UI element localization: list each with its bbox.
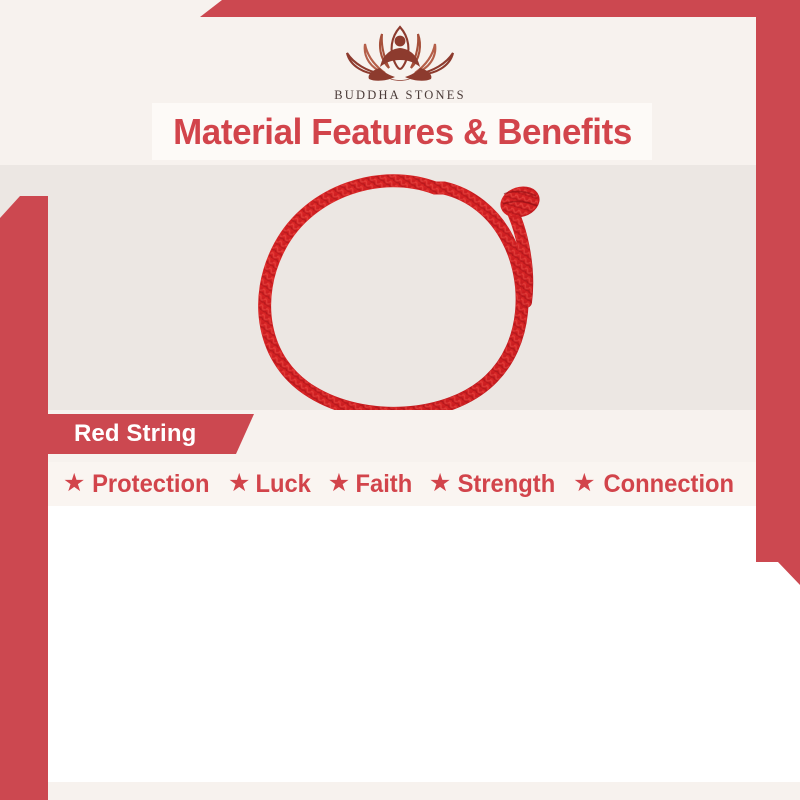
- lotus-meditation-icon: [325, 19, 475, 85]
- benefit-label: Luck: [256, 470, 311, 499]
- decorative-left-bar: [0, 196, 48, 800]
- star-icon: ★: [573, 471, 595, 496]
- star-icon: ★: [328, 471, 350, 496]
- product-name-banner: Red String: [28, 414, 254, 454]
- benefit-item: ★ Connection: [567, 470, 743, 499]
- title-band: Material Features & Benefits: [152, 103, 652, 160]
- benefit-label: Strength: [458, 470, 556, 499]
- benefit-item: ★ Protection: [57, 470, 219, 499]
- benefit-item: ★ Strength: [423, 470, 564, 499]
- benefit-item: ★ Faith: [322, 470, 420, 499]
- description-background: [0, 506, 800, 782]
- product-photo-area: [0, 165, 800, 430]
- benefit-item: ★ Luck: [222, 470, 319, 499]
- page-title: Material Features & Benefits: [173, 111, 632, 153]
- brand-name: BUDDHA STONES: [334, 88, 466, 103]
- footer-strip: [0, 782, 800, 800]
- red-braided-bracelet-image: [232, 162, 572, 432]
- benefit-label: Faith: [356, 470, 413, 499]
- decorative-right-bar: [756, 0, 800, 585]
- benefit-label: Protection: [92, 470, 209, 499]
- product-name-label: Red String: [74, 420, 196, 448]
- star-icon: ★: [228, 471, 250, 496]
- star-icon: ★: [63, 471, 85, 496]
- benefits-row: ★ Protection ★ Luck ★ Faith ★ Strength ★…: [0, 462, 800, 506]
- infographic-page: BUDDHA STONES Material Features & Benefi…: [0, 0, 800, 800]
- benefit-label: Connection: [603, 470, 734, 499]
- brand-logo: BUDDHA STONES: [0, 19, 800, 103]
- star-icon: ★: [429, 471, 451, 496]
